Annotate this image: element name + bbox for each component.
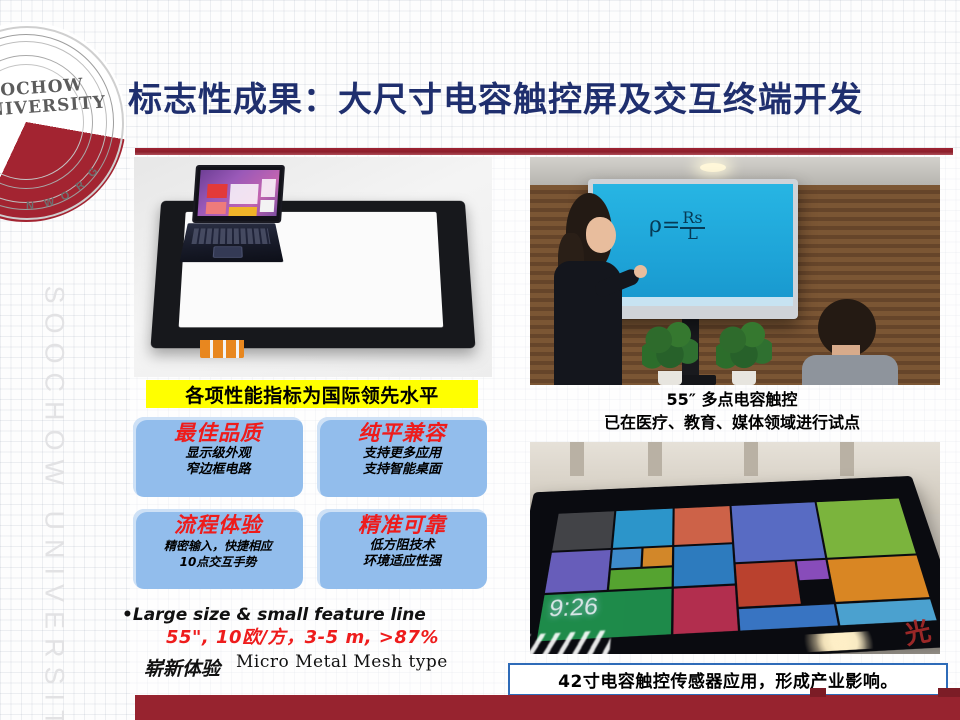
feature-title: 流程体验 [133,512,303,538]
highlight-banner: 各项性能指标为国际领先水平 [146,380,478,408]
feature-line: 支持智能桌面 [317,462,487,478]
table-clock: 9:26 [547,594,599,624]
teacher-face [586,217,616,253]
feature-line: 显示级外观 [133,446,303,462]
vertical-university-watermark: SOOCHOW UNIVERSITY [39,286,70,586]
feature-box-quality[interactable]: 最佳品质 显示级外观 窄边框电路 [133,417,303,497]
title-underline-rule [135,148,953,155]
slide-title: 标志性成果：大尺寸电容触控屏及交互终端开发 [128,72,948,121]
laptop-lid [192,165,285,223]
caption-whiteboard-line1: 55″ 多点电容触控 [512,388,952,411]
caption-whiteboard-line2: 已在医疗、教育、媒体领域进行试点 [512,411,952,434]
spec-footnote-cn: 崭新体验 [144,654,220,681]
laptop-device [184,165,279,265]
feature-box-reliability[interactable]: 精准可靠 低方阻技术 环境适应性强 [317,509,487,589]
plant-leaves [642,319,698,371]
photo-touch-table-terminal: 9:26 光 [530,442,940,654]
laptop-screen [197,170,279,216]
spec-headline: •Large size & small feature line [122,604,512,626]
red-seal-stamp: 光 [901,609,940,649]
feature-box-grid: 最佳品质 显示级外观 窄边框电路 纯平兼容 支持更多应用 支持智能桌面 流程体验… [133,417,495,597]
photo-interactive-whiteboard-classroom: ρ=RsL [530,157,940,385]
furniture-leg [744,442,758,476]
feature-title: 纯平兼容 [317,420,487,446]
university-seal-logo: SOOCHOW UNIVERSITY GROWN MAN [0,22,126,222]
touch-table-surface: 9:26 [530,476,940,654]
footer-notch-left [810,688,826,697]
teacher-figure [552,193,630,385]
spec-footnote-en: Micro Metal Mesh type [236,652,448,672]
feature-title: 最佳品质 [133,420,303,446]
plant-pot [658,371,682,385]
plant-pot [732,371,756,385]
laptop-base [179,223,283,262]
formula-rho: ρ= [649,213,680,238]
handwritten-formula: ρ=RsL [649,210,705,242]
seated-viewer-figure [802,299,898,385]
feature-box-compatibility[interactable]: 纯平兼容 支持更多应用 支持智能桌面 [317,417,487,497]
potted-plant-right [716,319,772,385]
feature-line: 精密输入，快捷相应 [133,538,303,554]
plant-leaves [716,319,772,371]
spec-footnote-row: 崭新体验 Micro Metal Mesh type [144,650,512,680]
footer-accent-bar [135,695,960,720]
laptop-touchpad [213,246,243,257]
furniture-leg [648,442,662,476]
ceiling-light [700,163,726,172]
touch-contact-marks [530,630,611,654]
teacher-hand [634,265,647,278]
photo-touch-panel-with-laptop [134,157,492,377]
touch-panel-flex-cable [200,340,244,358]
feature-line: 低方阻技术 [317,538,487,554]
furniture-leg [840,442,854,476]
footer-notch-right [938,688,960,697]
seal-arc-label: GROWN MAN [0,22,126,222]
feature-line: 环境适应性强 [317,554,487,570]
laptop-keyboard [191,228,270,244]
surface-light-reflections [797,630,893,653]
viewer-body [802,355,898,385]
formula-denominator: L [687,224,698,243]
feature-line: 10点交互手势 [133,554,303,570]
specs-bullet-block: •Large size & small feature line 55", 10… [122,604,512,680]
feature-line: 窄边框电路 [133,462,303,478]
potted-plant-left [642,319,698,385]
feature-title: 精准可靠 [317,512,487,538]
feature-line: 支持更多应用 [317,446,487,462]
caption-whiteboard: 55″ 多点电容触控 已在医疗、教育、媒体领域进行试点 [512,388,952,434]
furniture-leg [570,442,584,476]
presentation-slide: SOOCHOW UNIVERSITY GROWN MAN SOOCHOW UNI… [0,0,960,720]
caption-touch-table: 42寸电容触控传感器应用，形成产业影响。 [508,663,948,696]
spec-values: 55", 10欧/方，3-5 m, >87% [166,626,512,650]
feature-box-experience[interactable]: 流程体验 精密输入，快捷相应 10点交互手势 [133,509,303,589]
